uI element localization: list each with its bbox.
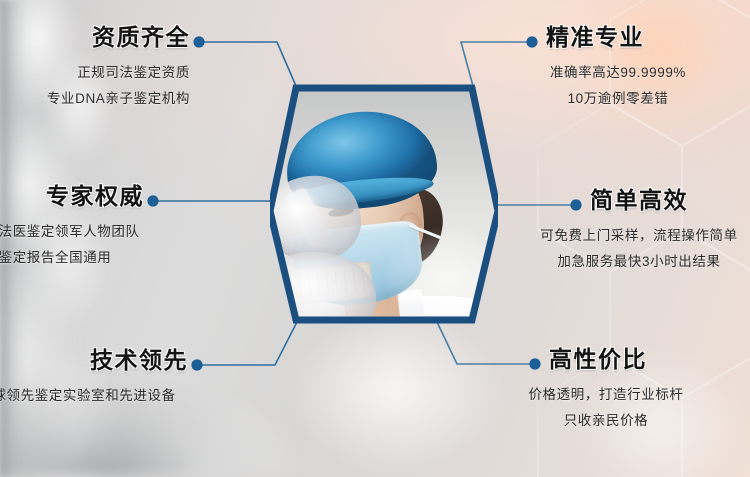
feature-efficiency: 简单高效 可免费上门采样，流程操作简单 加急服务最快3小时出结果 bbox=[590, 189, 750, 268]
feature-precision-title: 精准专业 bbox=[546, 26, 750, 49]
feature-technology-title: 技术领先 bbox=[0, 349, 188, 372]
feature-technology: 技术领先 全球领先鉴定实验室和先进设备 bbox=[0, 349, 188, 403]
hero-hexagon bbox=[270, 84, 498, 324]
feature-qualification-line-2: 专业DNA亲子鉴定机构 bbox=[0, 92, 190, 106]
feature-efficiency-line-2: 加急服务最快3小时出结果 bbox=[528, 255, 750, 269]
feature-qualification-title: 资质齐全 bbox=[0, 26, 190, 49]
feature-precision-line-1: 准确率高达99.9999% bbox=[520, 66, 716, 80]
feature-precision-line-2: 10万逾例零差错 bbox=[520, 92, 716, 106]
hero-photo bbox=[270, 84, 498, 324]
feature-efficiency-line-1: 可免费上门采样，流程操作简单 bbox=[528, 229, 750, 243]
feature-value: 高性价比 价格透明，打造行业标杆 只收亲民价格 bbox=[549, 348, 729, 427]
feature-qualification: 资质齐全 正规司法鉴定资质 专业DNA亲子鉴定机构 bbox=[0, 26, 190, 105]
feature-authority-title: 专家权威 bbox=[0, 185, 144, 208]
feature-precision: 精准专业 准确率高达99.9999% 10万逾例零差错 bbox=[546, 26, 750, 105]
feature-efficiency-title: 简单高效 bbox=[590, 189, 750, 212]
feature-authority: 专家权威 资深法医鉴定领军人物团队 鉴定报告全国通用 bbox=[0, 185, 144, 264]
feature-value-line-2: 只收亲民价格 bbox=[513, 414, 699, 428]
feature-qualification-line-1: 正规司法鉴定资质 bbox=[0, 66, 190, 80]
feature-authority-line-2: 鉴定报告全国通用 bbox=[0, 251, 144, 265]
feature-value-title: 高性价比 bbox=[549, 348, 729, 371]
feature-value-line-1: 价格透明，打造行业标杆 bbox=[513, 388, 699, 402]
feature-authority-line-1: 资深法医鉴定领军人物团队 bbox=[0, 225, 144, 239]
infographic-canvas: 资质齐全 正规司法鉴定资质 专业DNA亲子鉴定机构 精准专业 准确率高达99.9… bbox=[0, 0, 750, 477]
feature-technology-line-1: 全球领先鉴定实验室和先进设备 bbox=[0, 389, 188, 403]
